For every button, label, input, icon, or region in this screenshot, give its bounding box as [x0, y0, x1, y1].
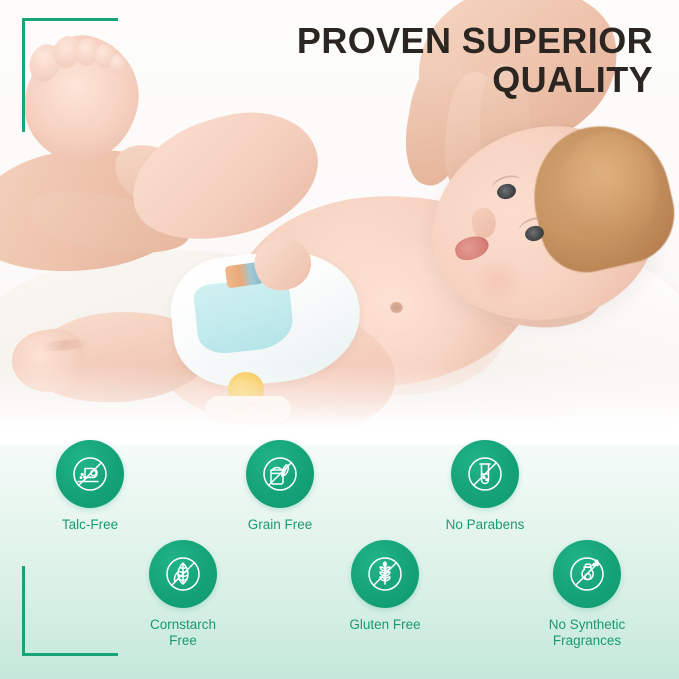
- badge-label: Gluten Free: [323, 617, 447, 633]
- baby-hair-highlight: [560, 132, 656, 236]
- badge-label: Cornstarch Free: [121, 617, 245, 650]
- pacifier-nipple: [228, 372, 264, 406]
- badge-talc-free[interactable]: Talc-Free: [28, 440, 152, 533]
- no-grain-sack-icon: [258, 452, 302, 496]
- pacifier-shield: [205, 396, 291, 422]
- badge-label: No Synthetic Fragrances: [525, 617, 649, 650]
- badge-label-line-1: No Synthetic: [549, 617, 626, 632]
- badge-label-line-2: Fragrances: [553, 633, 621, 648]
- feature-badge-group: Talc-Free Grain Free: [0, 430, 679, 679]
- badge-circle: [451, 440, 519, 508]
- page-title: PROVEN SUPERIOR QUALITY: [233, 22, 653, 99]
- title-line-2: QUALITY: [233, 61, 653, 100]
- bracket-line-horizontal: [22, 18, 118, 21]
- badge-circle: [351, 540, 419, 608]
- baby-navel: [390, 302, 403, 313]
- badge-cornstarch-free[interactable]: Cornstarch Free: [121, 540, 245, 650]
- title-line-1: PROVEN SUPERIOR: [297, 20, 653, 61]
- corner-bracket-top-left: [0, 0, 130, 140]
- marketing-image: PROVEN SUPERIOR QUALITY Talc-Free: [0, 0, 679, 679]
- badge-gluten-free[interactable]: Gluten Free: [323, 540, 447, 633]
- badge-grain-free[interactable]: Grain Free: [218, 440, 342, 533]
- no-perfume-bottle-icon: [565, 552, 609, 596]
- no-corn-cob-icon: [161, 552, 205, 596]
- no-test-tube-icon: [463, 452, 507, 496]
- badge-label: No Parabens: [423, 517, 547, 533]
- badge-label: Grain Free: [218, 517, 342, 533]
- badge-no-synthetic-fragrances[interactable]: No Synthetic Fragrances: [525, 540, 649, 650]
- badge-label: Talc-Free: [28, 517, 152, 533]
- badge-label-line-2: Free: [169, 633, 197, 648]
- no-talc-powder-icon: [68, 452, 112, 496]
- badge-circle: [246, 440, 314, 508]
- badge-circle: [56, 440, 124, 508]
- bracket-line-vertical: [22, 18, 25, 132]
- badge-label-line-1: Cornstarch: [150, 617, 216, 632]
- badge-circle: [553, 540, 621, 608]
- badge-no-parabens[interactable]: No Parabens: [423, 440, 547, 533]
- no-wheat-stalk-icon: [363, 552, 407, 596]
- badge-circle: [149, 540, 217, 608]
- pacifier-ring: [236, 402, 270, 430]
- baby-cheek: [470, 258, 526, 304]
